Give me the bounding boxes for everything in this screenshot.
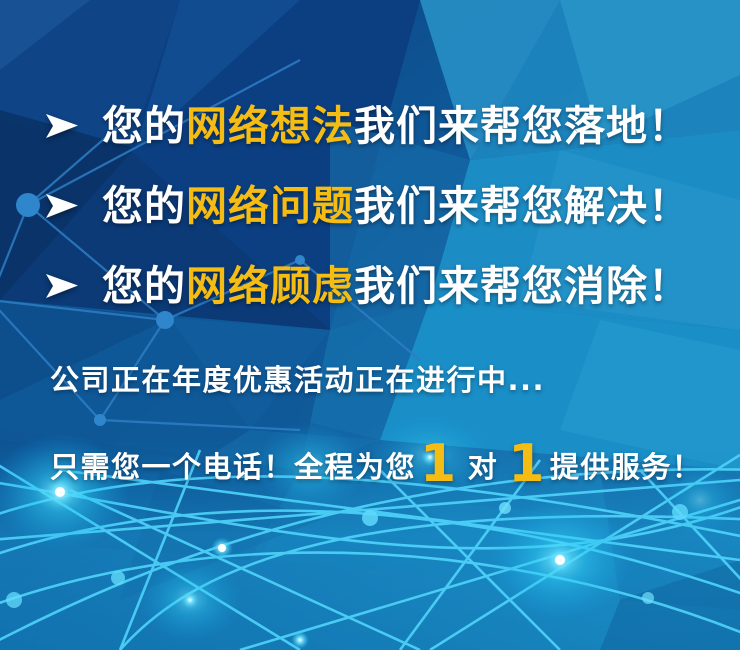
headline-text-2: 您的网络问题我们来帮您解决！ xyxy=(102,186,690,227)
headline-3-suffix: 我们来帮您消除！ xyxy=(354,262,690,310)
arrow-right-triangle-icon xyxy=(40,104,84,148)
headline-2-suffix: 我们来帮您解决！ xyxy=(354,182,690,230)
arrow-right-triangle-icon xyxy=(40,184,84,228)
headline-row-1: 您的网络想法我们来帮您落地！ xyxy=(40,104,690,148)
number-one-first: 1 xyxy=(420,438,458,490)
promo-banner: 您的网络想法我们来帮您落地！ 您的网络问题我们来帮您解决！ 您的网络顾虑我们来帮… xyxy=(0,0,740,650)
banner-content: 您的网络想法我们来帮您落地！ 您的网络问题我们来帮您解决！ 您的网络顾虑我们来帮… xyxy=(0,0,740,650)
headline-row-2: 您的网络问题我们来帮您解决！ xyxy=(40,184,690,228)
headline-3-highlight: 网络顾虑 xyxy=(186,262,354,310)
subline-service-part-2: 提供服务！ xyxy=(550,453,703,482)
number-one-second: 1 xyxy=(508,438,546,490)
headline-3-prefix: 您的 xyxy=(102,262,186,310)
headline-2-prefix: 您的 xyxy=(102,182,186,230)
subline-service-part-1: 只需您一个电话！全程为您 xyxy=(50,453,416,482)
subline-service: 只需您一个电话！全程为您 1 对 1 提供服务！ xyxy=(50,434,702,486)
headline-1-prefix: 您的 xyxy=(102,102,186,150)
subline-service-middle: 对 xyxy=(468,453,499,482)
headline-text-3: 您的网络顾虑我们来帮您消除！ xyxy=(102,266,690,307)
subline-promo: 公司正在年度优惠活动正在进行中... xyxy=(50,366,545,395)
headline-2-highlight: 网络问题 xyxy=(186,182,354,230)
headline-1-suffix: 我们来帮您落地！ xyxy=(354,102,690,150)
headline-text-1: 您的网络想法我们来帮您落地！ xyxy=(102,106,690,147)
arrow-right-triangle-icon xyxy=(40,264,84,308)
headline-row-3: 您的网络顾虑我们来帮您消除！ xyxy=(40,264,690,308)
headline-1-highlight: 网络想法 xyxy=(186,102,354,150)
